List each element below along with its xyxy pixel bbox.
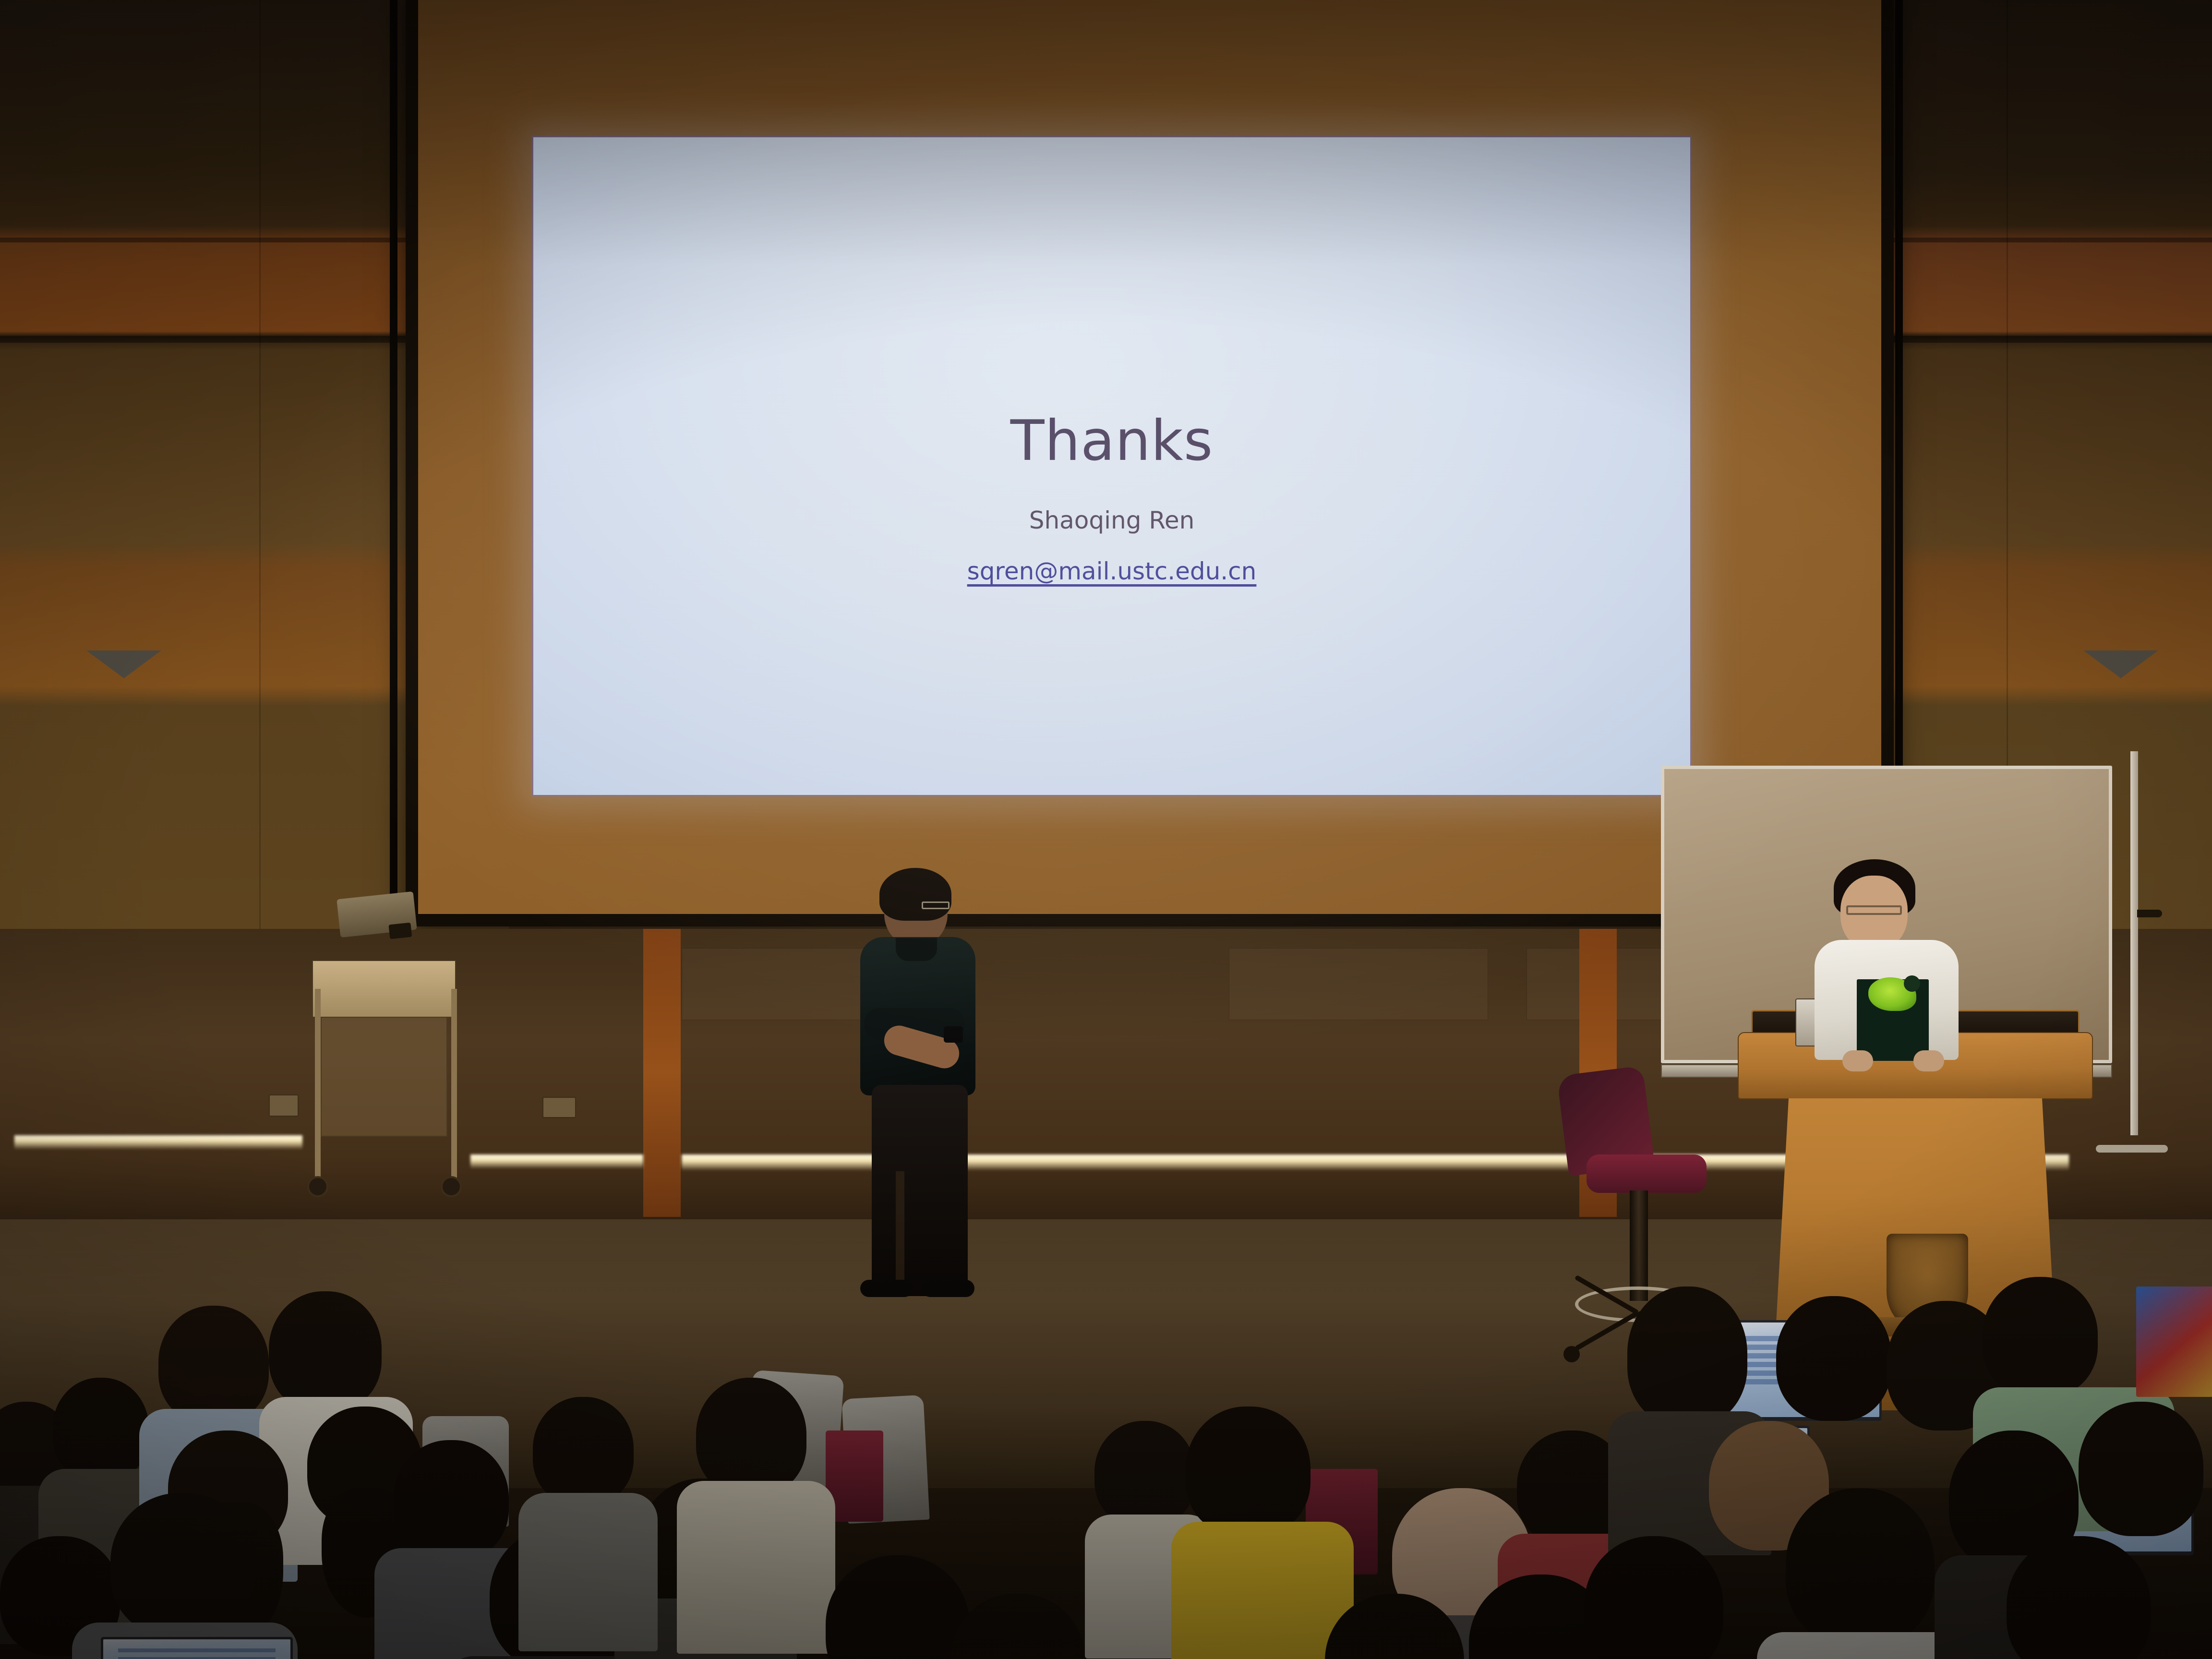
trolley-leg [451, 989, 457, 1190]
audience-body [518, 1493, 658, 1651]
audience-head [1627, 1286, 1747, 1426]
speaker-leg-gap [896, 1171, 904, 1282]
slide-email-link[interactable]: sqren@mail.ustc.edu.cn [967, 557, 1257, 585]
trolley-leg [315, 989, 321, 1190]
wall-panel [1229, 948, 1488, 1020]
projected-slide: Thanks Shaoqing Ren sqren@mail.ustc.edu.… [533, 137, 1690, 795]
audience-head [1186, 1407, 1310, 1536]
screen-edge-seam [390, 0, 397, 941]
av-trolley [307, 960, 466, 1210]
podium-presenter [1819, 859, 1963, 1061]
audience-seating [0, 1286, 2212, 1659]
audience-head [394, 1440, 509, 1560]
speaker-collar [896, 938, 937, 961]
laptop-screen [103, 1639, 290, 1659]
whiteboard-stand-foot [2096, 1145, 2168, 1153]
speaker-glasses-icon [922, 902, 950, 909]
audience-body [1171, 1522, 1354, 1659]
poster-artwork [2136, 1286, 2212, 1397]
audience-head [950, 1594, 1085, 1659]
audience-head [1094, 1421, 1195, 1527]
presenter-hand [1842, 1050, 1873, 1071]
audience-head [2079, 1402, 2203, 1536]
acoustic-triangle-icon [2083, 650, 2158, 678]
audience-body [1757, 1632, 1963, 1659]
orange-pillar [643, 929, 681, 1217]
audience-head [53, 1378, 149, 1481]
standing-speaker [850, 874, 994, 1296]
presenter-hand [1913, 1050, 1944, 1071]
audience-head [1786, 1488, 1935, 1647]
audience-head [269, 1291, 382, 1411]
wall-wash-light [470, 1154, 643, 1169]
audience-head [110, 1493, 254, 1637]
wall-panel [682, 948, 869, 1020]
speaker-legs [872, 1085, 968, 1296]
audience-head [533, 1397, 634, 1505]
speaker-wristwatch [944, 1026, 963, 1043]
speaker-hair [879, 868, 951, 921]
presenter-glasses-icon [1846, 905, 1902, 915]
trolley-caster [441, 1176, 462, 1197]
wall-wash-light [682, 1154, 1575, 1171]
audience-head [1776, 1296, 1891, 1421]
trolley-lower-shelf [321, 1017, 447, 1137]
acoustic-triangle-icon [86, 650, 161, 678]
slide-author: Shaoqing Ren [1029, 506, 1195, 534]
projector [337, 891, 417, 938]
audience-head [826, 1555, 970, 1659]
audience-laptop[interactable] [101, 1637, 293, 1659]
audience-head [696, 1378, 806, 1495]
whiteboard-hook-icon [2137, 910, 2162, 917]
slide-title: Thanks [1010, 413, 1214, 469]
trolley-caster [307, 1176, 328, 1197]
power-outlet [269, 1094, 299, 1117]
power-outlet [542, 1097, 576, 1118]
flower-accent [1904, 975, 1920, 992]
lecture-hall-photo: Thanks Shaoqing Ren sqren@mail.ustc.edu.… [0, 0, 2212, 1659]
whiteboard-stand-post [2130, 751, 2138, 1135]
projector-lens-icon [388, 923, 412, 939]
audience-head [1983, 1277, 2098, 1397]
audience-head [158, 1306, 269, 1423]
screen-edge-seam [1895, 0, 1903, 816]
stool-gas-cylinder [1630, 1190, 1648, 1301]
audience-body [677, 1481, 835, 1654]
wall-seam [259, 0, 261, 950]
trolley-top-shelf [312, 960, 456, 1018]
stool-seat [1587, 1154, 1707, 1193]
wall-wash-light [14, 1135, 302, 1150]
